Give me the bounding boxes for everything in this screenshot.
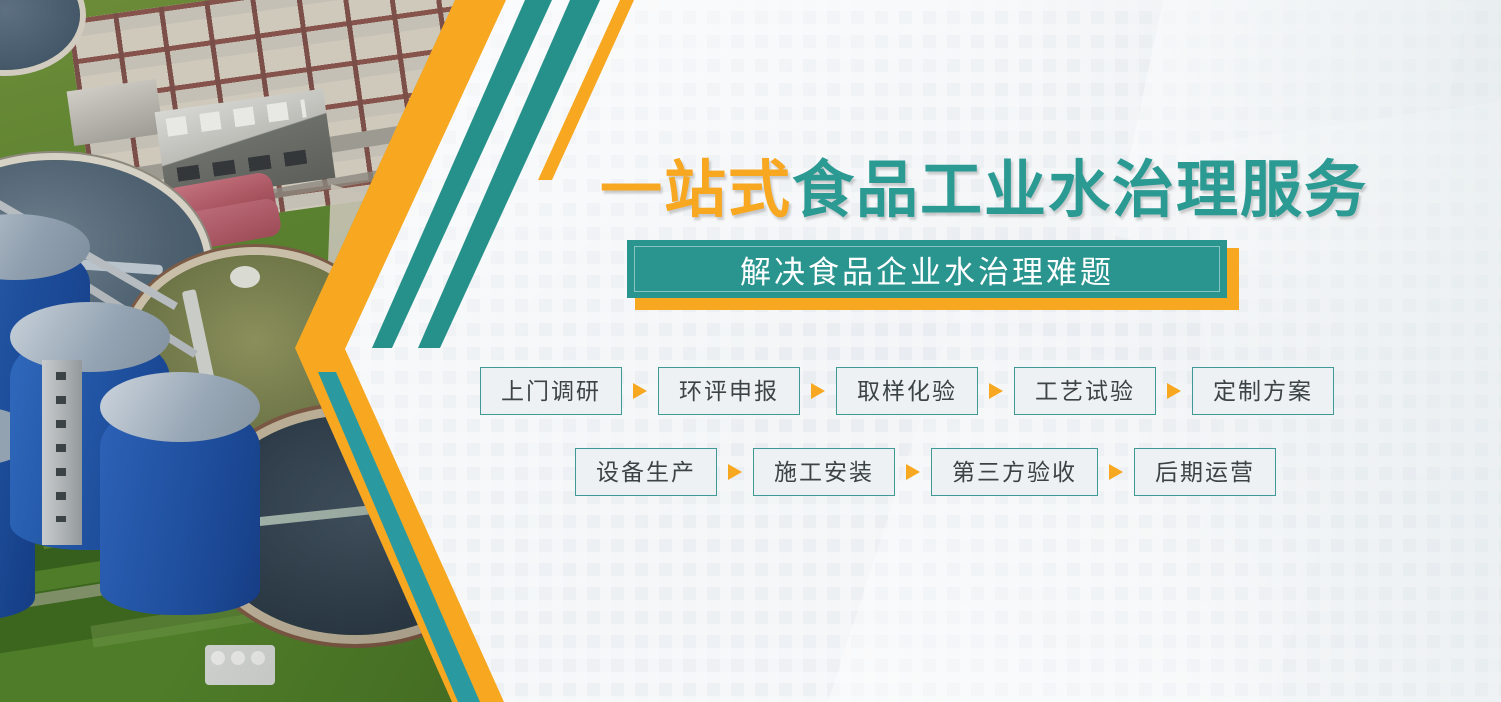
process-step-shigong-anzhuang[interactable]: 施工安装 [753,448,895,496]
triangle-right-icon [906,464,920,480]
triangle-right-icon [728,464,742,480]
triangle-right-icon [1109,464,1123,480]
triangle-right-icon [633,383,647,399]
hero-banner: 一站式食品工业水治理服务 解决食品企业水治理难题 上门调研 环评申报 取样化验 … [0,0,1501,702]
process-step-dingzhi-fangan[interactable]: 定制方案 [1192,367,1334,415]
process-flow: 上门调研 环评申报 取样化验 工艺试验 定制方案 设备生产 施工安装 第三方验收… [480,365,1430,498]
triangle-right-icon [989,383,1003,399]
subtitle-text: 解决食品企业水治理难题 [740,247,1114,292]
process-flow-row-2: 设备生产 施工安装 第三方验收 后期运营 [575,446,1430,498]
process-step-disanfang-yanshou[interactable]: 第三方验收 [931,448,1098,496]
triangle-right-icon [1167,383,1181,399]
process-step-shangmen-diaoyan[interactable]: 上门调研 [480,367,622,415]
page-title: 一站式食品工业水治理服务 [600,155,1400,227]
headline-highlight: 一站式 [600,156,792,225]
subtitle-bar-teal: 解决食品企业水治理难题 [627,240,1227,298]
process-step-houqi-yunying[interactable]: 后期运营 [1134,448,1276,496]
process-flow-row-1: 上门调研 环评申报 取样化验 工艺试验 定制方案 [480,365,1430,417]
subtitle-bar: 解决食品企业水治理难题 [627,240,1231,302]
triangle-right-icon [811,383,825,399]
headline-rest: 食品工业水治理服务 [792,156,1368,225]
banner-content: 一站式食品工业水治理服务 解决食品企业水治理难题 上门调研 环评申报 取样化验 … [0,0,1501,702]
process-step-quyang-huayan[interactable]: 取样化验 [836,367,978,415]
process-step-huanping-shenbao[interactable]: 环评申报 [658,367,800,415]
process-step-gongyi-shiyan[interactable]: 工艺试验 [1014,367,1156,415]
process-step-shebei-shengchan[interactable]: 设备生产 [575,448,717,496]
